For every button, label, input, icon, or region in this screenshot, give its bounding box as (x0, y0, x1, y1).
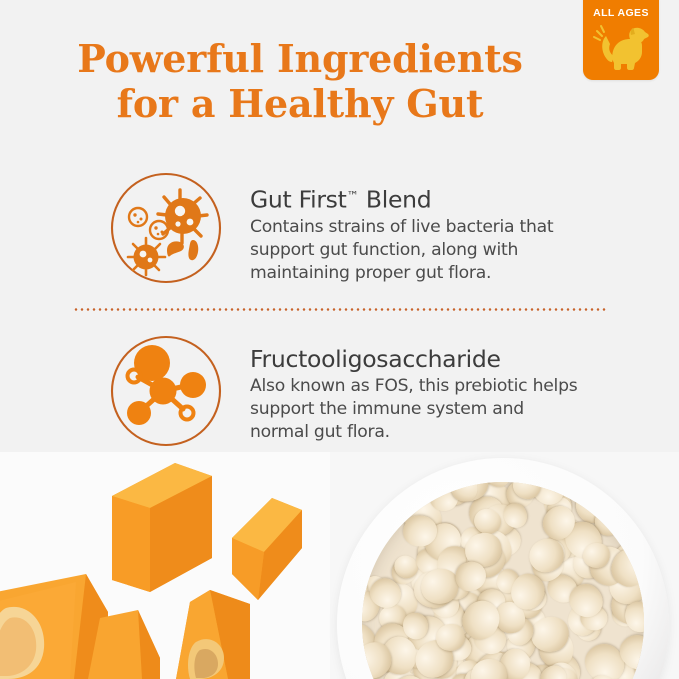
page-title-line-2: for a Healthy Gut (0, 81, 600, 126)
all-ages-badge-label: ALL AGES (583, 7, 659, 19)
page-title: Powerful Ingredients for a Healthy Gut (0, 36, 600, 126)
feature-row-fructooligosaccharide: Fructooligosaccharide Also known as FOS,… (108, 333, 580, 449)
page-title-line-1: Powerful Ingredients (0, 36, 600, 81)
feature-title-main: Fructooligosaccharide (250, 345, 501, 373)
dotted-divider (73, 308, 607, 311)
feature-title-suffix: Blend (359, 186, 432, 214)
feature-body-fructooligosaccharide: Also known as FOS, this prebiotic helps … (250, 375, 580, 444)
dog-silhouette-icon (592, 22, 650, 72)
feature-text-fructooligosaccharide: Fructooligosaccharide Also known as FOS,… (250, 333, 580, 444)
feature-title-fructooligosaccharide: Fructooligosaccharide (250, 345, 580, 373)
bowl (337, 458, 669, 679)
feature-title-gut-first-blend: Gut First™ Blend (250, 182, 580, 214)
feature-title-main: Gut First (250, 186, 347, 214)
molecule-icon (108, 333, 224, 449)
feature-body-gut-first-blend: Contains strains of live bacteria that s… (250, 216, 580, 285)
chickpeas (362, 482, 644, 679)
trademark-symbol: ™ (347, 189, 359, 203)
feature-text-gut-first-blend: Gut First™ Blend Contains strains of liv… (250, 170, 580, 285)
squash-photo (0, 452, 340, 679)
infographic-page: ALL AGES Powerful Ingredients (0, 0, 679, 679)
feature-row-gut-first-blend: Gut First™ Blend Contains strains of liv… (108, 170, 580, 286)
bacteria-petri-dish-icon (108, 170, 224, 286)
